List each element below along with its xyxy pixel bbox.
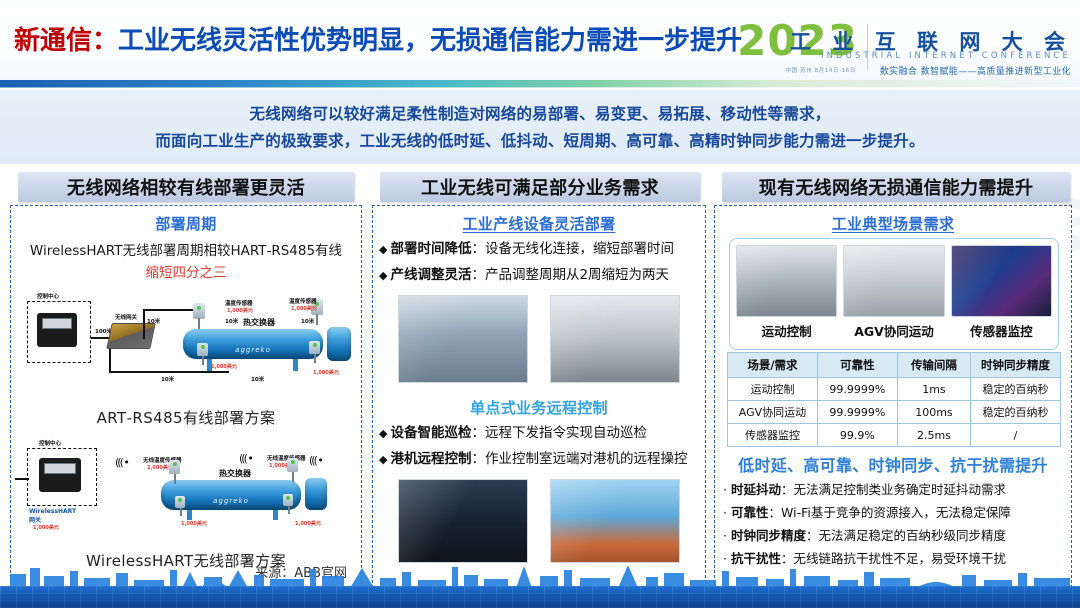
- plc-controller-icon: [37, 313, 77, 347]
- wire-riser-mid: [143, 309, 145, 339]
- panel-body-left: 部署周期 WirelessHART无线部署周期相较HART‑RS485有线 缩短…: [10, 205, 362, 588]
- wireless-signal-icon: ((( •: [239, 452, 252, 465]
- panel-heading-mid: 工业无线可满足部分业务需求: [380, 172, 700, 202]
- plc-label: PLC控制器: [41, 307, 64, 313]
- wireless-deployment-diagram: 控制中心 PLC控制器 WirelessHART网关 1,000美元 ((( •…: [11, 434, 361, 546]
- left-desc-line: WirelessHART无线部署周期相较HART‑RS485有线: [11, 239, 361, 259]
- wire-riser-left: [109, 349, 111, 373]
- right-bullet-2: ·可靠性：Wi-Fi基于竞争的资源接入，无法稳定保障: [723, 503, 1071, 522]
- tank-leg: [187, 510, 192, 520]
- cell-sync: 稳定的百纳秒: [971, 378, 1061, 401]
- photo-agv: [843, 245, 944, 317]
- heat-exchanger-label: 热交换器: [243, 317, 275, 328]
- table-row: AGV协同运动 99.9999% 100ms 稳定的百纳秒: [728, 401, 1061, 424]
- panel-body-right: 工业典型场景需求 运动控制 AGV协同运动 传感器监控 场景/需求 可靠性 传输…: [714, 205, 1072, 588]
- wireless-signal-icon: ((( •: [309, 454, 322, 467]
- temp-sensor-label: 温度传感器: [289, 297, 317, 305]
- control-center-label: 控制中心: [39, 439, 61, 447]
- tank-leg: [293, 359, 298, 371]
- cell-interval: 1ms: [897, 378, 970, 401]
- wired-deployment-diagram: 控制中心 PLC控制器 100米 无线网关 10米 10米 10米 10米 10…: [11, 285, 361, 403]
- right-bullet-3: ·时钟同步精度：无法满足稳定的百纳秒级同步精度: [723, 526, 1071, 545]
- distance-10m-b: 10米: [161, 375, 174, 383]
- table-col-reliability: 可靠性: [817, 353, 897, 378]
- tank-leg: [273, 510, 278, 520]
- dot-bullet-icon: ·: [723, 528, 727, 543]
- photo-conveyor-line: [550, 295, 680, 383]
- wireless-gateway-label: WirelessHART网关: [29, 508, 76, 524]
- sensor-price-label: 1,000美元: [295, 520, 321, 527]
- tank-side-vessel: [305, 478, 327, 510]
- control-center-label: 控制中心: [37, 292, 59, 300]
- header-gradient-rule: [0, 80, 1080, 87]
- photo-remote-control-room: [398, 479, 528, 563]
- cell-sync: 稳定的百纳秒: [971, 401, 1061, 424]
- panel-heading-left: 无线网络相较有线部署更灵活: [18, 172, 354, 202]
- page-header: 新通信：工业无线灵活性优势明显，无损通信能力需进一步提升 2023 中国·苏州 …: [0, 0, 1080, 88]
- table-row: 运动控制 99.9999% 1ms 稳定的百纳秒: [728, 378, 1061, 401]
- tank-side-vessel: [327, 327, 351, 361]
- temp-sensor-icon: [309, 341, 320, 363]
- scenario-card-group: 运动控制 AGV协同运动 传感器监控: [729, 238, 1059, 350]
- right-section1-title: 工业典型场景需求: [715, 213, 1071, 234]
- dot-bullet-icon: ·: [723, 505, 727, 520]
- wireless-temp-sensor-icon: [175, 496, 185, 516]
- wireless-temp-sensor-icon: [283, 494, 293, 514]
- scenario-label: 传感器监控: [951, 321, 1052, 340]
- table-col-scenario: 场景/需求: [728, 353, 818, 378]
- photo-motion-control: [736, 245, 837, 317]
- temp-sensor-label: 温度传感器: [225, 299, 253, 307]
- sensor-price-label: 1,000美元: [227, 307, 253, 314]
- lead-paragraph: 无线网络可以较好满足柔性制造对网络的易部署、易变更、易拓展、移动性等需求， 而面…: [0, 90, 1080, 164]
- heat-exchanger-label: 热交换器: [219, 468, 251, 479]
- dot-bullet-icon: ·: [723, 551, 727, 566]
- mid-bullet-1: ◆部署时间降低：设备无线化连接，缩短部署时间: [379, 239, 705, 260]
- cell-interval: 2.5ms: [897, 424, 970, 447]
- plc-controller-icon: [39, 458, 81, 492]
- city-silhouette-icon: [0, 566, 1080, 588]
- requirements-table: 场景/需求 可靠性 传输间隔 时钟同步精度 运动控制 99.9999% 1ms …: [727, 352, 1061, 447]
- left-caption-wired: ART‑RS485有线部署方案: [11, 407, 361, 428]
- conference-name-en: INDUSTRIAL INTERNET CONFERENCE: [821, 51, 1071, 61]
- diamond-bullet-icon: ◆: [379, 269, 387, 282]
- wire-bus-bottom: [109, 371, 229, 373]
- tank-brand-label: aggreko: [213, 497, 249, 505]
- table-col-interval: 传输间隔: [897, 353, 970, 378]
- scenario-label: AGV协同运动: [843, 321, 944, 340]
- panel-heading-right: 现有无线网络无损通信能力需提升: [722, 172, 1070, 202]
- temp-sensor-icon: [193, 303, 205, 329]
- temp-sensor-icon: [197, 343, 208, 365]
- mid-bullet-3: ◆设备智能巡检：远程下发指令实现自动巡检: [379, 423, 705, 444]
- table-header-row: 场景/需求 可靠性 传输间隔 时钟同步精度: [728, 353, 1061, 378]
- distance-10m-c: 10米: [251, 375, 264, 383]
- photo-sensor-monitoring: [951, 245, 1052, 317]
- cell-scenario: 传感器监控: [728, 424, 818, 447]
- diamond-bullet-icon: ◆: [379, 243, 387, 256]
- photo-port-crane: [550, 479, 680, 563]
- sensor-price-label: 1,000美元: [313, 369, 339, 376]
- tank-brand-label: aggreko: [235, 346, 271, 354]
- sensor-price-label: 1,000美元: [211, 363, 237, 370]
- mid-bullet-2: ◆产线调整灵活：产品调整周期从2周缩短为两天: [379, 265, 705, 286]
- table-row: 传感器监控 99.9% 2.5ms /: [728, 424, 1061, 447]
- plc-label: PLC控制器: [41, 452, 64, 458]
- page-title-prefix: 新通信：: [14, 26, 118, 56]
- cell-reliability: 99.9999%: [817, 378, 897, 401]
- page-title: 新通信：工业无线灵活性优势明显，无损通信能力需进一步提升: [14, 20, 742, 57]
- conference-slogan: 数实融合 数智赋能——高质量推进新型工业化: [880, 64, 1071, 77]
- gateway-icon: [106, 323, 156, 349]
- table-col-sync: 时钟同步精度: [971, 353, 1061, 378]
- scenario-agv: AGV协同运动: [843, 245, 944, 340]
- mid-section1-title: 工业产线设备灵活部署: [373, 213, 705, 234]
- lead-line-2: 而面向工业生产的极致要求，工业无线的低时延、低抖动、短周期、高可靠、高精时钟同步…: [0, 128, 1080, 155]
- mid-bullet-4: ◆港机远程控制：作业控制室远端对港机的远程操控: [379, 449, 705, 470]
- scenario-sensor-monitoring: 传感器监控: [951, 245, 1052, 340]
- scenario-motion-control: 运动控制: [736, 245, 837, 340]
- gateway-price-label: 1,000美元: [33, 524, 59, 531]
- diamond-bullet-icon: ◆: [379, 427, 387, 440]
- cell-interval: 100ms: [897, 401, 970, 424]
- footer-city-skyline: [0, 566, 1080, 608]
- left-sub-title: 部署周期: [11, 213, 361, 234]
- cell-scenario: AGV协同运动: [728, 401, 818, 424]
- dot-bullet-icon: ·: [723, 482, 727, 497]
- wireless-signal-icon: ((( •: [115, 456, 128, 469]
- distance-10m-a: 10米: [147, 317, 160, 325]
- left-highlight: 缩短四分之三: [11, 261, 361, 281]
- cell-sync: /: [971, 424, 1061, 447]
- right-section2-title: 低时延、高可靠、时钟同步、抗干扰需提升: [715, 452, 1071, 476]
- scenario-label: 运动控制: [736, 321, 837, 340]
- wireless-temp-sensor-icon: [287, 458, 298, 482]
- cell-scenario: 运动控制: [728, 378, 818, 401]
- panel-body-mid: 工业产线设备灵活部署 ◆部署时间降低：设备无线化连接，缩短部署时间 ◆产线调整灵…: [372, 205, 706, 588]
- cell-reliability: 99.9999%: [817, 401, 897, 424]
- right-bullet-1: ·时延抖动：无法满足控制类业务确定时延抖动需求: [723, 480, 1071, 499]
- page-title-main: 工业无线灵活性优势明显，无损通信能力需进一步提升: [118, 26, 742, 56]
- conference-date-location: 中国·苏州 8月14日-16日: [786, 66, 856, 74]
- lead-line-1: 无线网络可以较好满足柔性制造对网络的易部署、易变更、易拓展、移动性等需求，: [0, 101, 1080, 128]
- footer-grid-pattern: [0, 586, 1080, 608]
- diamond-bullet-icon: ◆: [379, 453, 387, 466]
- header-gradient-rule-secondary: [0, 87, 1080, 88]
- wire-segment: [15, 478, 29, 480]
- mid-section2-title: 单点式业务远程控制: [373, 397, 705, 418]
- gateway-label: 无线网关: [115, 313, 137, 321]
- distance-10m-d: 10米: [225, 317, 238, 325]
- wireless-temp-sensor-icon: [169, 460, 180, 484]
- sensor-price-label: 1,000美元: [291, 305, 317, 312]
- photo-production-line: [398, 295, 528, 383]
- cell-reliability: 99.9%: [817, 424, 897, 447]
- sensor-price-label: 1,000美元: [181, 520, 207, 527]
